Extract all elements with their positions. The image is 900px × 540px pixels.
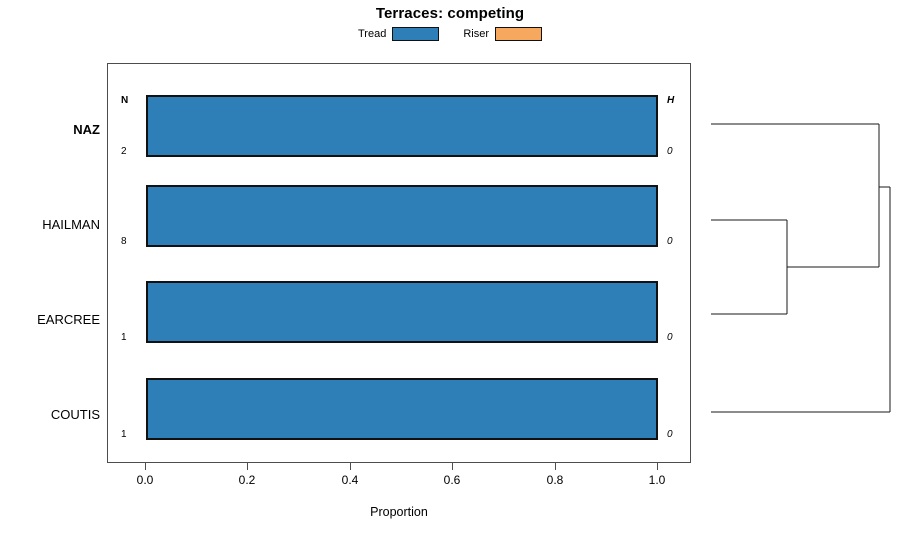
x-tick-5 — [657, 463, 658, 470]
plot-panel: N H 2 0 8 0 1 0 1 0 — [107, 63, 691, 463]
dendrogram — [700, 63, 900, 463]
x-axis: 0.0 0.2 0.4 0.6 0.8 1.0 Proportion — [107, 463, 691, 523]
chart-title: Terraces: competing — [0, 5, 900, 22]
dendrogram-svg — [700, 63, 900, 463]
bar-row-earcree: 1 0 — [108, 281, 692, 343]
bar-row-coutis: 1 0 — [108, 378, 692, 440]
x-tick-label-2: 0.4 — [342, 474, 359, 486]
legend-swatch-riser — [495, 27, 542, 41]
chart-legend: Tread Riser — [0, 27, 900, 41]
y-label-hailman: HAILMAN — [0, 218, 100, 231]
legend-label-tread: Tread — [358, 29, 386, 40]
chart-root: Terraces: competing Tread Riser NAZ HAIL… — [0, 0, 900, 540]
row-h-value-coutis: 0 — [667, 430, 673, 440]
legend-swatch-tread — [392, 27, 439, 41]
row-n-value-earcree: 1 — [121, 333, 127, 343]
x-tick-4 — [555, 463, 556, 470]
bar-segment-tread-naz[interactable] — [146, 95, 658, 157]
legend-entry-tread: Tread — [358, 27, 439, 41]
x-tick-2 — [350, 463, 351, 470]
bar-segment-tread-earcree[interactable] — [146, 281, 658, 343]
y-axis-labels: NAZ HAILMAN EARCREE COUTIS — [0, 63, 100, 463]
x-tick-1 — [247, 463, 248, 470]
x-tick-label-3: 0.6 — [444, 474, 461, 486]
row-n-value-coutis: 1 — [121, 430, 127, 440]
y-label-naz: NAZ — [0, 123, 100, 136]
row-n-value-naz: 2 — [121, 147, 127, 157]
x-tick-label-0: 0.0 — [137, 474, 154, 486]
x-tick-3 — [452, 463, 453, 470]
row-h-value-earcree: 0 — [667, 333, 673, 343]
legend-label-riser: Riser — [463, 29, 489, 40]
bar-row-hailman: 8 0 — [108, 185, 692, 247]
legend-entry-riser: Riser — [463, 27, 542, 41]
row-h-value-hailman: 0 — [667, 237, 673, 247]
row-n-value-hailman: 8 — [121, 237, 127, 247]
bar-row-naz: 2 0 — [108, 95, 692, 157]
bar-segment-tread-hailman[interactable] — [146, 185, 658, 247]
x-tick-0 — [145, 463, 146, 470]
x-tick-label-5: 1.0 — [649, 474, 666, 486]
y-label-coutis: COUTIS — [0, 408, 100, 421]
y-label-earcree: EARCREE — [0, 313, 100, 326]
row-h-value-naz: 0 — [667, 147, 673, 157]
x-tick-label-4: 0.8 — [547, 474, 564, 486]
bar-segment-tread-coutis[interactable] — [146, 378, 658, 440]
x-axis-title: Proportion — [107, 505, 691, 519]
x-tick-label-1: 0.2 — [239, 474, 256, 486]
